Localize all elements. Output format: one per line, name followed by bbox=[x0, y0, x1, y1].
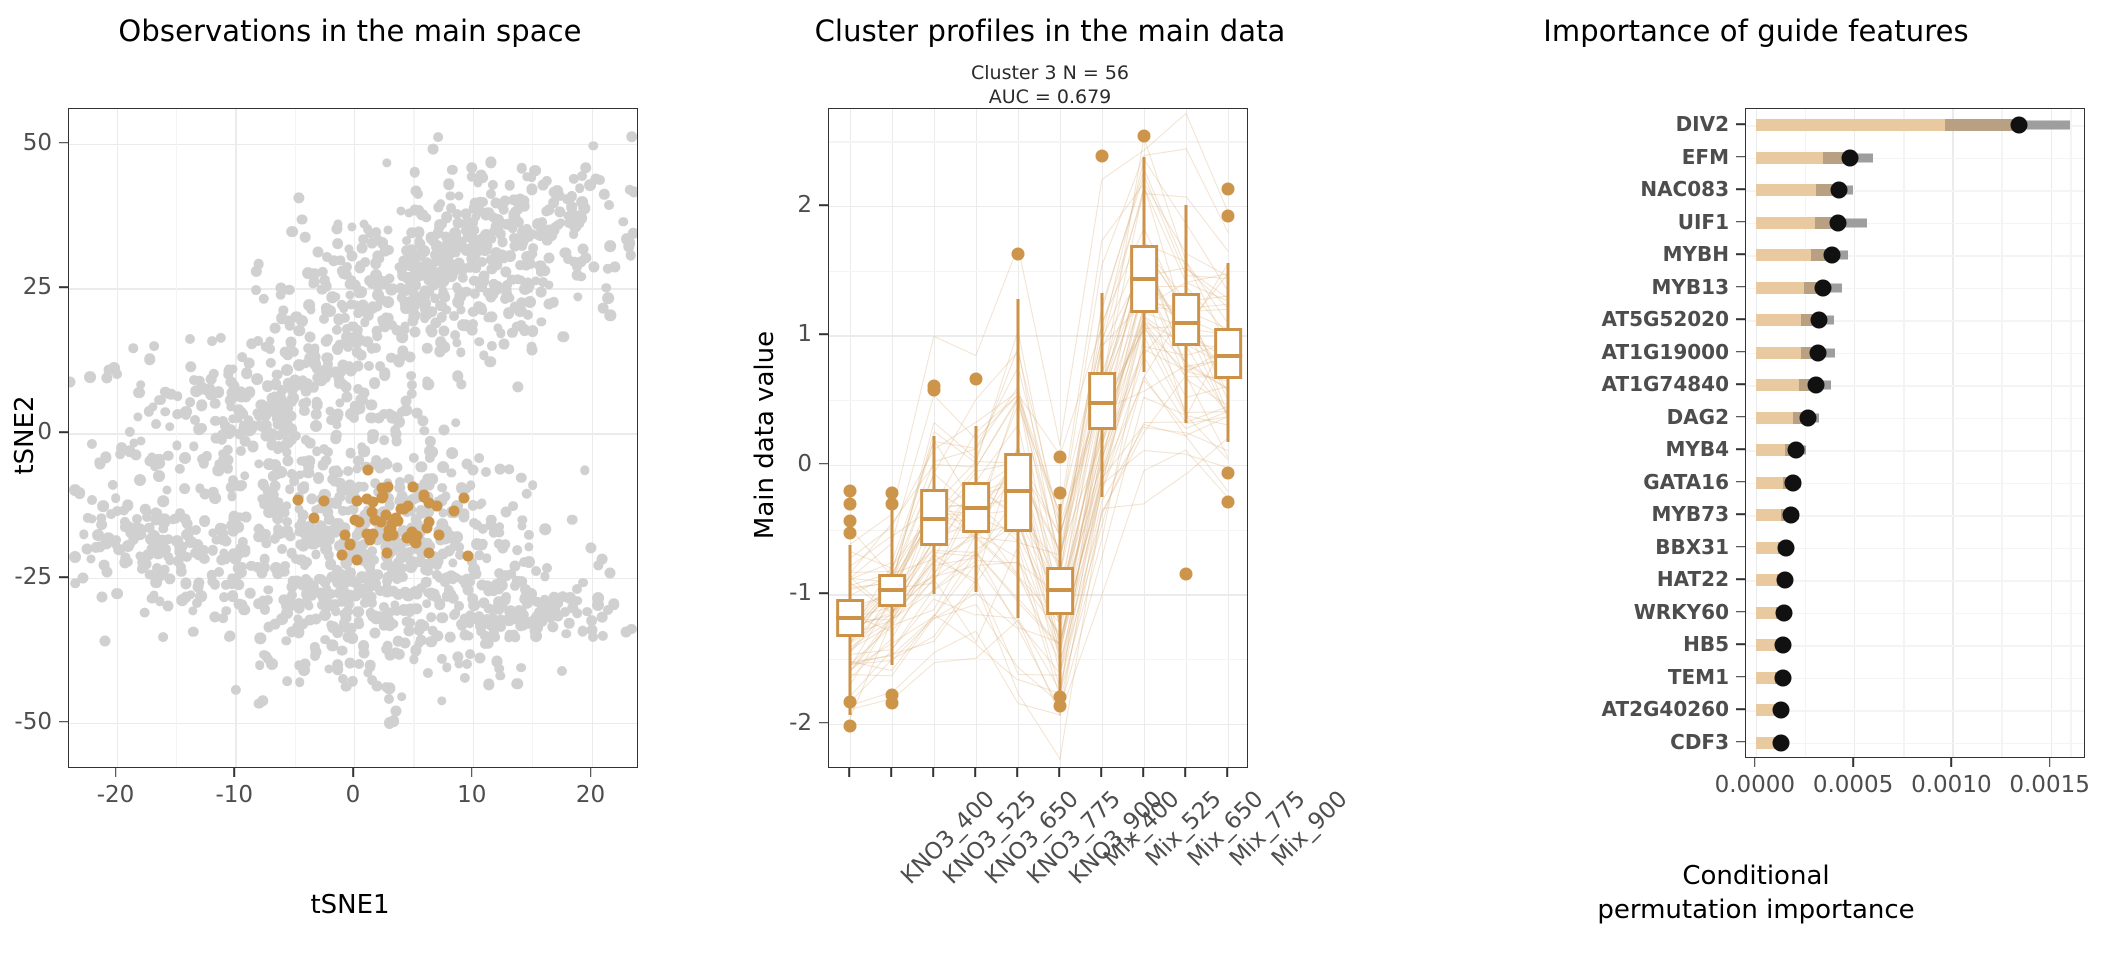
scatter-point bbox=[137, 557, 147, 567]
scatter-point bbox=[497, 251, 509, 263]
scatter-point bbox=[462, 584, 473, 595]
scatter-point bbox=[188, 606, 197, 615]
importance-plot-area bbox=[1745, 108, 2085, 758]
scatter-point bbox=[626, 250, 637, 261]
panel-observations: Observations in the main space -50-25025… bbox=[0, 0, 700, 960]
scatter-point bbox=[454, 192, 463, 201]
x-tick-label: -10 bbox=[215, 782, 253, 808]
scatter-point bbox=[337, 360, 348, 371]
scatter-point bbox=[400, 405, 412, 417]
grid-line-h bbox=[1746, 678, 2084, 679]
scatter-point bbox=[267, 393, 278, 404]
scatter-point bbox=[129, 344, 138, 353]
scatter-point bbox=[240, 436, 251, 447]
scatter-point bbox=[440, 293, 449, 302]
scatter-point bbox=[69, 551, 81, 563]
scatter-point bbox=[150, 462, 160, 472]
scatter-point bbox=[441, 211, 453, 223]
boxplot-median bbox=[878, 588, 906, 592]
scatter-point bbox=[158, 633, 168, 643]
scatter-point bbox=[306, 493, 317, 504]
scatter-point bbox=[293, 325, 304, 336]
scatter-point bbox=[306, 305, 315, 314]
grid-line-h bbox=[69, 433, 637, 434]
scatter-point bbox=[254, 633, 265, 644]
grid-line-v bbox=[1756, 109, 1757, 757]
scatter-point bbox=[497, 237, 508, 248]
feature-label: MYB4 bbox=[1400, 437, 1729, 461]
scatter-point bbox=[437, 483, 447, 493]
importance-point bbox=[1841, 149, 1858, 166]
importance-point bbox=[1831, 182, 1848, 199]
scatter-point bbox=[296, 214, 307, 225]
scatter-point bbox=[233, 599, 244, 610]
x-tick-mark bbox=[848, 768, 850, 777]
y-tick-mark bbox=[59, 721, 68, 723]
feature-label: NAC083 bbox=[1400, 177, 1729, 201]
scatter-point bbox=[577, 626, 588, 637]
scatter-point bbox=[539, 605, 550, 616]
importance-point bbox=[1807, 377, 1824, 394]
scatter-point bbox=[338, 584, 349, 595]
feature-label: TEM1 bbox=[1400, 665, 1729, 689]
grid-line-h-minor bbox=[829, 141, 1247, 142]
grid-line-v-minor bbox=[532, 109, 533, 767]
importance-point bbox=[1785, 474, 1802, 491]
scatter-point bbox=[382, 158, 391, 167]
boxplot-median bbox=[1046, 588, 1074, 592]
scatter-point bbox=[139, 607, 150, 618]
scatter-point bbox=[433, 228, 444, 239]
scatter-point bbox=[504, 464, 513, 473]
scatter-point bbox=[272, 568, 284, 580]
scatter-point bbox=[207, 545, 217, 555]
cluster-subtitle: Cluster 3 N = 56 AUC = 0.679 bbox=[700, 62, 1400, 110]
feature-label: DIV2 bbox=[1400, 112, 1729, 136]
scatter-point-highlight bbox=[293, 494, 304, 505]
grid-line-v-minor bbox=[176, 109, 177, 767]
scatter-point bbox=[609, 261, 620, 272]
boxplot-outlier bbox=[1222, 210, 1235, 223]
scatter-point bbox=[181, 592, 192, 603]
scatter-point bbox=[295, 677, 305, 687]
scatter-point bbox=[449, 311, 459, 321]
x-tick-mark bbox=[1100, 768, 1102, 777]
x-tick-label: 10 bbox=[457, 782, 486, 808]
importance-point bbox=[1783, 507, 1800, 524]
scatter-point bbox=[478, 197, 488, 207]
boxplot-median bbox=[920, 517, 948, 521]
scatter-point bbox=[396, 283, 407, 294]
scatter-point bbox=[596, 554, 607, 565]
page-title-right: Importance of guide features bbox=[1400, 14, 2112, 48]
scatter-point bbox=[347, 676, 358, 687]
scatter-point bbox=[474, 453, 484, 463]
scatter-point bbox=[598, 631, 608, 641]
scatter-point bbox=[266, 358, 276, 368]
y-tick-mark bbox=[1736, 643, 1745, 645]
scatter-point bbox=[469, 518, 479, 528]
y-tick-mark bbox=[59, 142, 68, 144]
boxplot-outlier bbox=[1222, 466, 1235, 479]
scatter-point bbox=[580, 465, 589, 474]
y-tick-mark bbox=[819, 334, 828, 336]
scatter-point bbox=[330, 599, 340, 609]
scatter-point bbox=[352, 347, 363, 358]
scatter-point bbox=[626, 624, 636, 634]
scatter-point bbox=[374, 611, 384, 621]
y-tick-mark bbox=[1736, 611, 1745, 613]
scatter-point bbox=[487, 341, 497, 351]
scatter-point bbox=[438, 425, 449, 436]
scatter-point bbox=[303, 467, 315, 479]
y-tick-mark bbox=[1736, 448, 1745, 450]
importance-point bbox=[1810, 344, 1827, 361]
observation-trajectory bbox=[1185, 415, 1228, 460]
scatter-point bbox=[160, 407, 170, 417]
scatter-point bbox=[371, 343, 381, 353]
x-tick-mark bbox=[974, 768, 976, 777]
scatter-point bbox=[353, 481, 364, 492]
scatter-point bbox=[421, 577, 432, 588]
boxplot-median bbox=[1088, 401, 1116, 405]
scatter-point bbox=[162, 600, 173, 611]
scatter-point bbox=[522, 616, 532, 626]
scatter-point bbox=[190, 386, 202, 398]
scatter-point bbox=[316, 574, 326, 584]
scatter-point bbox=[589, 262, 600, 273]
scatter-point bbox=[364, 361, 374, 371]
page-title-left: Observations in the main space bbox=[0, 14, 700, 48]
y-tick-label: 25 bbox=[0, 274, 52, 300]
scatter-point bbox=[253, 259, 264, 270]
scatter-point bbox=[379, 321, 390, 332]
scatter-point bbox=[199, 553, 209, 563]
scatter-point bbox=[319, 444, 329, 454]
scatter-point bbox=[92, 529, 104, 541]
grid-line-h bbox=[1746, 743, 2084, 744]
scatter-point bbox=[409, 655, 418, 664]
scatter-point bbox=[563, 254, 573, 264]
y-tick-mark bbox=[1736, 578, 1745, 580]
scatter-point bbox=[541, 572, 550, 581]
scatter-point bbox=[370, 627, 381, 638]
scatter-point bbox=[68, 376, 76, 387]
grid-line-h bbox=[1746, 645, 2084, 646]
importance-point bbox=[1774, 669, 1791, 686]
scatter-point bbox=[619, 217, 628, 226]
scatter-point bbox=[489, 528, 500, 539]
scatter-point bbox=[321, 455, 332, 466]
scatter-point bbox=[74, 487, 86, 499]
scatter-point bbox=[259, 596, 268, 605]
y-tick-mark bbox=[1736, 156, 1745, 158]
scatter-point bbox=[421, 309, 433, 321]
scatter-point bbox=[573, 292, 582, 301]
scatter-point-highlight bbox=[431, 501, 442, 512]
boxplot-outlier bbox=[844, 497, 857, 510]
scatter-point bbox=[158, 524, 167, 533]
scatter-point bbox=[557, 666, 567, 676]
scatter-point bbox=[175, 463, 185, 473]
scatter-point bbox=[407, 379, 417, 389]
scatter-point bbox=[410, 167, 421, 178]
scatter-point bbox=[156, 395, 166, 405]
grid-line-v-minor bbox=[1805, 109, 1806, 757]
scatter-point bbox=[457, 319, 469, 331]
scatter-point bbox=[399, 324, 410, 335]
scatter-point bbox=[539, 265, 550, 276]
scatter-point-highlight bbox=[361, 528, 372, 539]
importance-point bbox=[1811, 312, 1828, 329]
scatter-point bbox=[443, 179, 454, 190]
observation-trajectory bbox=[934, 336, 977, 356]
x-tick-label: 0.0005 bbox=[1813, 772, 1893, 798]
feature-label: CDF3 bbox=[1400, 730, 1729, 754]
scatter-point bbox=[282, 501, 292, 511]
grid-line-v-minor bbox=[1903, 109, 1904, 757]
scatter-point bbox=[335, 339, 346, 350]
figure-root: Observations in the main space -50-25025… bbox=[0, 0, 2112, 960]
scatter-point bbox=[553, 220, 563, 230]
boxplot-outlier bbox=[844, 695, 857, 708]
scatter-point bbox=[285, 484, 295, 494]
scatter-point bbox=[321, 635, 331, 645]
observation-trajectory bbox=[1144, 113, 1187, 151]
scatter-point bbox=[604, 200, 614, 210]
scatter-point bbox=[241, 368, 253, 380]
scatter-point bbox=[304, 332, 315, 343]
scatter-point bbox=[235, 544, 247, 556]
scatter-point-highlight bbox=[309, 513, 320, 524]
y-tick-mark bbox=[1736, 286, 1745, 288]
scatter-point bbox=[447, 589, 457, 599]
scatter-point-highlight bbox=[407, 482, 418, 493]
scatter-point bbox=[270, 481, 281, 492]
x-tick-mark bbox=[471, 768, 473, 777]
scatter-point bbox=[283, 455, 294, 466]
scatter-point-highlight bbox=[382, 547, 393, 558]
scatter-point bbox=[514, 305, 526, 317]
importance-point bbox=[1776, 604, 1793, 621]
scatter-point bbox=[319, 609, 331, 621]
scatter-point bbox=[494, 569, 504, 579]
scatter-point bbox=[173, 441, 182, 450]
scatter-point bbox=[258, 478, 269, 489]
scatter-point bbox=[512, 381, 523, 392]
scatter-point bbox=[548, 197, 560, 209]
scatter-point bbox=[140, 504, 151, 515]
scatter-point bbox=[542, 176, 552, 186]
scatter-point bbox=[298, 664, 310, 676]
scatter-point bbox=[245, 588, 256, 599]
scatter-point bbox=[392, 574, 402, 584]
scatter-point bbox=[311, 397, 322, 408]
scatter-point bbox=[356, 287, 368, 299]
scatter-point bbox=[222, 454, 233, 465]
scatter-point bbox=[199, 515, 211, 527]
scatter-point bbox=[468, 600, 480, 612]
x-tick-mark bbox=[115, 768, 117, 777]
scatter-point bbox=[78, 572, 89, 583]
scatter-point bbox=[360, 257, 370, 267]
scatter-point bbox=[227, 577, 239, 589]
feature-label: MYB73 bbox=[1400, 502, 1729, 526]
scatter-point bbox=[354, 659, 364, 669]
scatter-point bbox=[277, 544, 287, 554]
scatter-point bbox=[531, 566, 541, 576]
scatter-point bbox=[516, 473, 526, 483]
scatter-point bbox=[126, 539, 135, 548]
scatter-point bbox=[149, 402, 158, 411]
scatter-point bbox=[394, 262, 403, 271]
boxplot-outlier bbox=[886, 697, 899, 710]
y-tick-label: -2 bbox=[700, 710, 812, 736]
scatter-point bbox=[87, 495, 97, 505]
scatter-point bbox=[583, 607, 593, 617]
feature-label: EFM bbox=[1400, 145, 1729, 169]
scatter-point bbox=[397, 692, 407, 702]
scatter-point bbox=[486, 311, 497, 322]
scatter-point-highlight bbox=[368, 496, 379, 507]
importance-point bbox=[1788, 442, 1805, 459]
scatter-point bbox=[293, 192, 304, 203]
scatter-point-highlight bbox=[401, 532, 412, 543]
x-tick-label: 0.0010 bbox=[1911, 772, 1991, 798]
scatter-point bbox=[379, 436, 389, 446]
scatter-point bbox=[605, 310, 616, 321]
scatter-point bbox=[370, 258, 381, 269]
scatter-point bbox=[136, 380, 146, 390]
scatter-point bbox=[460, 219, 471, 230]
middle-y-axis-label: Main data value bbox=[750, 235, 780, 635]
boxplot-median bbox=[1214, 354, 1242, 358]
scatter-point bbox=[474, 652, 485, 663]
scatter-point bbox=[382, 641, 393, 652]
scatter-point bbox=[332, 238, 344, 250]
scatter-point bbox=[506, 221, 517, 232]
scatter-point bbox=[157, 496, 169, 508]
scatter-point bbox=[300, 232, 311, 243]
scatter-point bbox=[529, 165, 541, 177]
cluster-auc-label: AUC = 0.679 bbox=[700, 86, 1400, 110]
boxplot-outlier bbox=[844, 514, 857, 527]
scatter-point bbox=[358, 395, 368, 405]
scatter-point bbox=[499, 339, 510, 350]
y-tick-mark bbox=[819, 204, 828, 206]
scatter-point bbox=[313, 472, 325, 484]
panel-feature-importance: Importance of guide features DIV2EFMNAC0… bbox=[1400, 0, 2112, 960]
scatter-point bbox=[276, 313, 288, 325]
importance-point bbox=[1829, 214, 1846, 231]
scatter-point bbox=[510, 581, 520, 591]
scatter-point bbox=[461, 287, 472, 298]
scatter-point bbox=[343, 631, 354, 642]
scatter-point bbox=[404, 208, 413, 217]
scatter-point bbox=[393, 636, 404, 647]
scatter-point bbox=[176, 562, 186, 572]
scatter-point bbox=[102, 567, 113, 578]
scatter-point bbox=[130, 439, 139, 448]
scatter-point bbox=[163, 485, 172, 494]
scatter-point bbox=[276, 613, 288, 625]
scatter-point bbox=[175, 508, 185, 518]
scatter-point bbox=[367, 547, 377, 557]
scatter-point bbox=[100, 452, 111, 463]
importance-point bbox=[1773, 702, 1790, 719]
scatter-point bbox=[188, 627, 198, 637]
scatter-point bbox=[215, 333, 225, 343]
right-x-axis-label-line2: permutation importance bbox=[1456, 894, 2056, 928]
grid-line-v bbox=[2051, 109, 2052, 757]
scatter-point bbox=[262, 380, 274, 392]
scatter-point bbox=[485, 255, 496, 266]
scatter-point bbox=[332, 664, 344, 676]
importance-point bbox=[1776, 572, 1793, 589]
scatter-point bbox=[331, 518, 343, 530]
grid-line-v-minor bbox=[2001, 109, 2002, 757]
y-tick-mark bbox=[1736, 741, 1745, 743]
scatter-point-highlight bbox=[363, 465, 374, 476]
scatter-point bbox=[98, 500, 110, 512]
scatter-point bbox=[599, 189, 609, 199]
scatter-point bbox=[468, 464, 479, 475]
importance-bar-overlap bbox=[1945, 119, 2019, 131]
scatter-point bbox=[345, 408, 357, 420]
scatter-point bbox=[173, 392, 183, 402]
scatter-point bbox=[561, 629, 571, 639]
scatter-point bbox=[86, 554, 95, 563]
feature-label: AT5G52020 bbox=[1400, 307, 1729, 331]
scatter-point bbox=[311, 550, 320, 559]
y-tick-mark bbox=[1736, 253, 1745, 255]
scatter-point bbox=[601, 283, 611, 293]
x-tick-label: 0.0000 bbox=[1715, 772, 1795, 798]
scatter-point bbox=[197, 423, 207, 433]
scatter-point-highlight bbox=[458, 492, 469, 503]
scatter-point bbox=[434, 132, 444, 142]
scatter-point bbox=[522, 488, 533, 499]
scatter-point bbox=[335, 398, 344, 407]
x-tick-label: 0.0015 bbox=[2009, 772, 2089, 798]
scatter-point bbox=[365, 565, 375, 575]
grid-line-h bbox=[69, 144, 637, 145]
y-tick-label: 50 bbox=[0, 130, 52, 156]
y-tick-mark bbox=[59, 287, 68, 289]
boxplot-outlier bbox=[1054, 699, 1067, 712]
scatter-point bbox=[112, 369, 122, 379]
feature-label: GATA16 bbox=[1400, 470, 1729, 494]
scatter-point bbox=[94, 541, 105, 552]
scatter-point bbox=[227, 377, 237, 387]
feature-label: HAT22 bbox=[1400, 567, 1729, 591]
scatter-point bbox=[308, 538, 320, 550]
x-tick-mark bbox=[1852, 758, 1854, 767]
scatter-point bbox=[474, 276, 483, 285]
scatter-point bbox=[390, 425, 400, 435]
scatter-point bbox=[271, 414, 282, 425]
scatter-point bbox=[134, 474, 146, 486]
scatter-point bbox=[111, 493, 121, 503]
x-tick-mark bbox=[352, 768, 354, 777]
scatter-point bbox=[440, 277, 449, 286]
scatter-point bbox=[603, 605, 613, 615]
scatter-point-highlight bbox=[463, 550, 474, 561]
scatter-point bbox=[206, 374, 217, 385]
scatter-point bbox=[511, 678, 522, 689]
scatter-point bbox=[446, 203, 456, 213]
scatter-point-highlight bbox=[421, 522, 432, 533]
